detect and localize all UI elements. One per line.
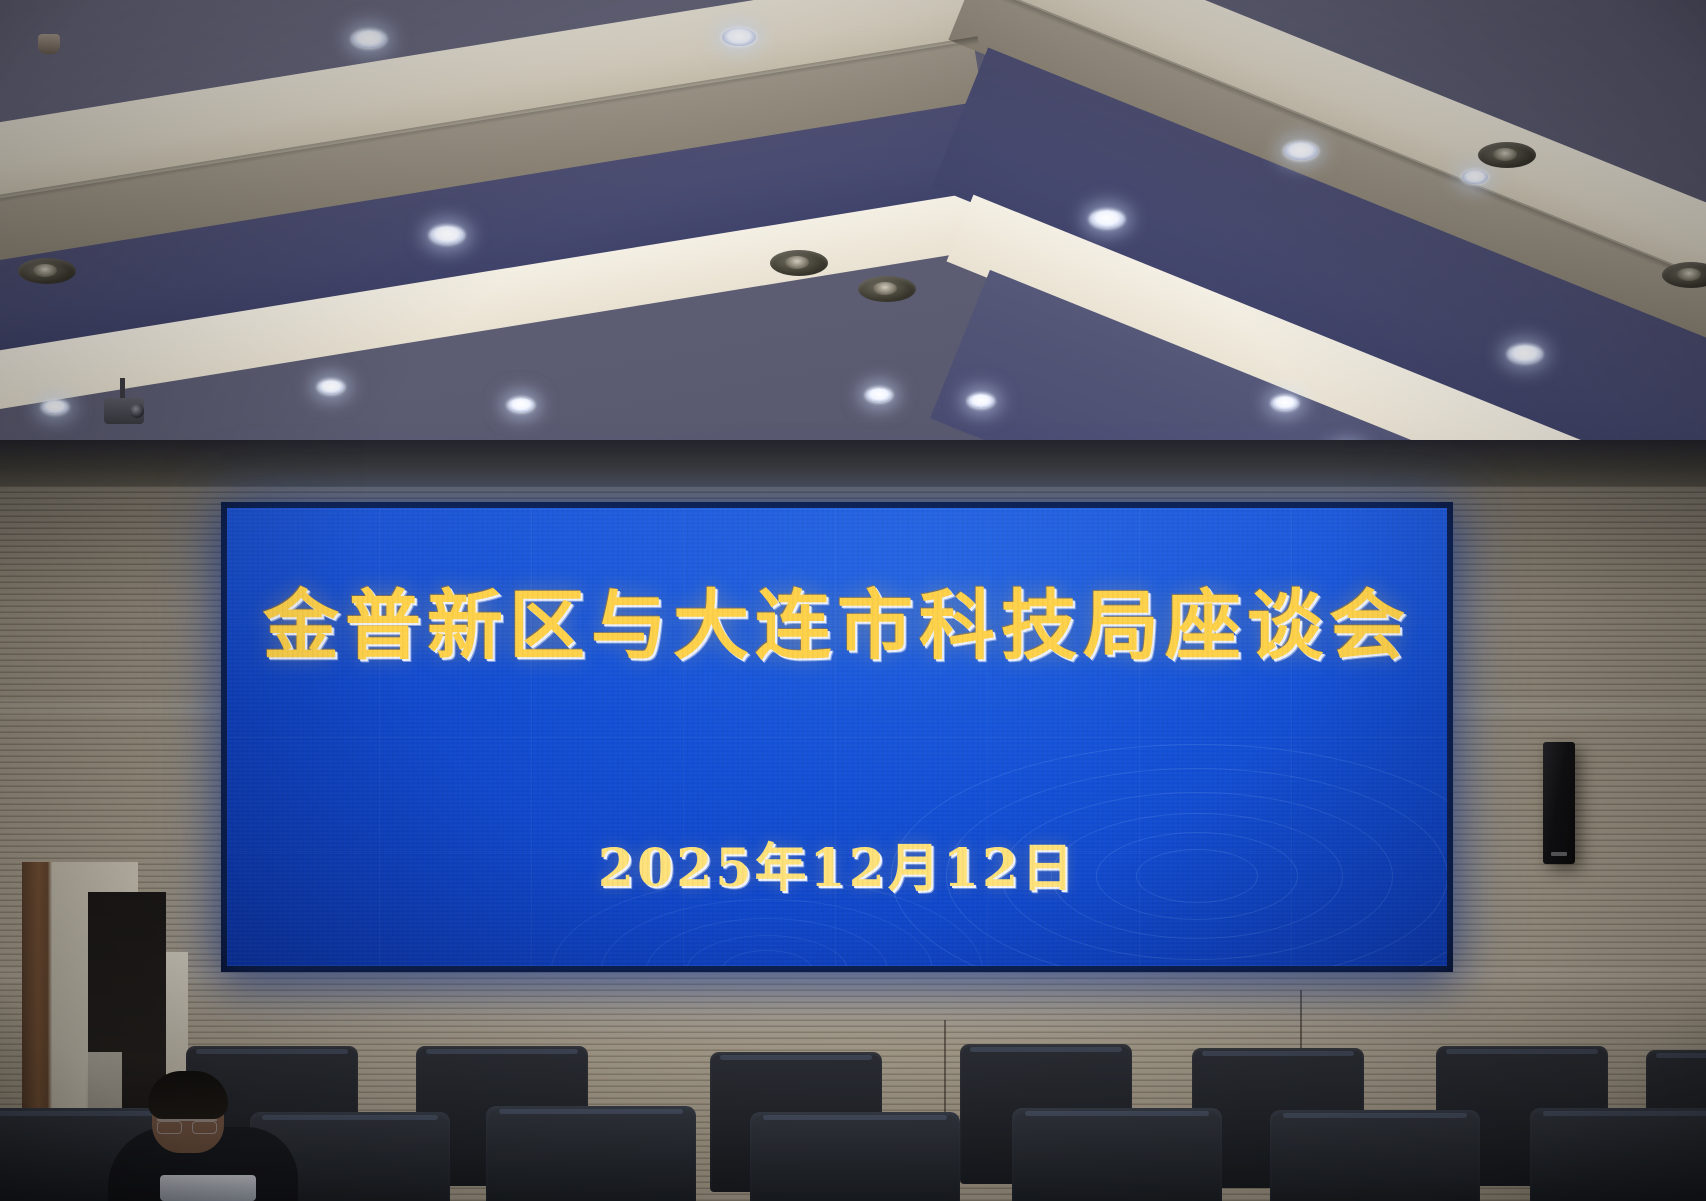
ripple-decoration <box>887 666 1447 966</box>
led-screen[interactable]: 金普新区与大连市科技局座谈会 2025年12月12日 <box>227 508 1447 966</box>
spotlight-fixture-icon <box>858 276 916 302</box>
screen-date: 2025年12月12日 <box>227 826 1447 901</box>
downlight-icon <box>866 388 892 402</box>
screen-title: 金普新区与大连市科技局座谈会 <box>227 586 1447 666</box>
downlight-icon <box>968 394 994 408</box>
chair[interactable] <box>486 1106 696 1201</box>
smoke-detector-icon <box>38 34 60 54</box>
spotlight-fixture-icon <box>770 250 828 276</box>
glasses-icon <box>157 1119 217 1132</box>
downlight-icon <box>352 30 386 48</box>
downlight-icon <box>1272 396 1298 410</box>
downlight-icon <box>42 400 68 414</box>
chair[interactable] <box>1012 1108 1222 1201</box>
spotlight-fixture-icon <box>1478 142 1536 168</box>
chair[interactable] <box>750 1112 960 1201</box>
seated-attendee <box>108 1075 298 1201</box>
chair[interactable] <box>1530 1108 1706 1201</box>
downlight-icon <box>1284 142 1318 160</box>
downlight-icon <box>1508 345 1542 363</box>
wall-speaker-icon <box>1543 742 1575 864</box>
conference-hall-photo: 金普新区与大连市科技局座谈会 2025年12月12日 <box>0 0 1706 1201</box>
downlight-icon <box>1090 210 1124 228</box>
downlight-icon <box>318 380 344 394</box>
chair[interactable] <box>1270 1110 1480 1201</box>
downlight-icon <box>508 398 534 412</box>
downlight-icon <box>722 28 756 46</box>
downlight-icon <box>430 226 464 244</box>
wall-top-shadow-band <box>0 440 1706 486</box>
downlight-icon <box>1462 170 1488 184</box>
spotlight-fixture-icon <box>18 258 76 284</box>
ceiling <box>0 0 1706 470</box>
attendee-device <box>160 1175 256 1201</box>
attendee-hair <box>148 1071 228 1119</box>
